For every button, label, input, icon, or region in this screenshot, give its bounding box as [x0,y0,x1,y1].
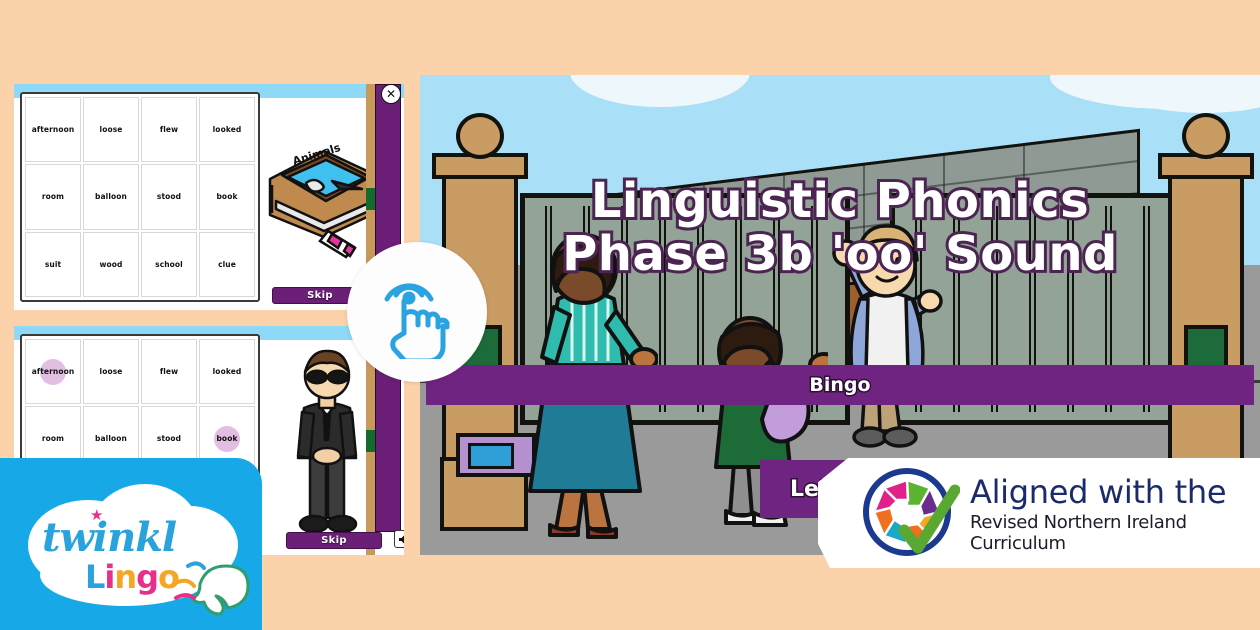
bingo-word: flew [160,367,178,376]
logo-lingo-wordmark: Lingo [85,558,179,596]
bingo-cell[interactable]: flew [141,97,197,162]
bingo-word: book [216,192,237,201]
bingo-cell[interactable]: looked [199,339,255,404]
speaker-icon[interactable] [394,530,404,548]
logo-twinkl-wordmark: twinkl [42,514,176,561]
bingo-cell[interactable]: suit [25,232,81,297]
bingo-word: loose [100,367,123,376]
bingo-cell[interactable]: balloon [83,164,139,229]
bingo-word: room [42,192,64,201]
tap-click-cursor-badge [347,242,487,382]
thumb-rail-green-tab [366,430,375,452]
bingo-cell[interactable]: clue [199,232,255,297]
playground-box-window [468,443,514,469]
logo-letter: L [85,558,104,596]
curriculum-alignment-badge: Aligned with the Revised Northern Irelan… [818,458,1260,568]
bingo-cell[interactable]: looked [199,97,255,162]
activity-name-label: Bingo [809,374,870,396]
bingo-cell[interactable]: loose [83,97,139,162]
bingo-word: loose [100,125,123,134]
bingo-word: afternoon [32,367,75,376]
bingo-word: stood [157,192,181,201]
gate-pillar-left-ball [456,113,504,159]
poster-canvas: afternoon loose flew looked room balloon… [0,0,1260,630]
skip-label: Skip [307,290,333,301]
bingo-cell[interactable]: book [199,164,255,229]
gate-pillar-right-ball [1182,113,1230,159]
tap-click-hand-icon [374,265,460,359]
bingo-word: suit [45,260,61,269]
logo-letter: g [136,558,158,596]
badge-line-1: Aligned with the [970,476,1260,510]
bingo-word: wood [99,260,122,269]
logo-letter: n [114,558,136,596]
thumb-rail-green-tab [366,188,375,210]
badge-line-2: Revised Northern Ireland Curriculum [970,512,1260,554]
logo-star-icon: ★ [90,508,103,523]
bingo-cell-marked[interactable]: afternoon [25,339,81,404]
bingo-cell[interactable]: school [141,232,197,297]
bingo-word: room [42,434,64,443]
bingo-word: stood [157,434,181,443]
close-glyph: ✕ [386,88,396,100]
thumb-content: afternoon loose flew looked room balloon… [14,84,404,310]
aperture-check-logo-icon [860,466,960,562]
bingo-word: clue [218,260,236,269]
bingo-cell[interactable]: flew [141,339,197,404]
skip-button[interactable]: Skip [286,532,382,549]
badge-text-block: Aligned with the Revised Northern Irelan… [970,476,1260,554]
logo-letter: i [104,558,114,596]
bingo-word: school [155,260,183,269]
bingo-word: balloon [95,192,127,201]
thumbnail-bingo-card-blank[interactable]: afternoon loose flew looked room balloon… [14,84,404,310]
bingo-word: afternoon [32,125,75,134]
skip-label: Skip [321,535,347,546]
bingo-word: book [216,434,237,443]
bingo-card[interactable]: afternoon loose flew looked room balloon… [20,92,260,302]
bingo-cell[interactable]: wood [83,232,139,297]
bingo-word: looked [213,125,242,134]
bingo-cell[interactable]: stood [141,164,197,229]
bingo-cell[interactable]: loose [83,339,139,404]
bingo-cell[interactable]: room [25,164,81,229]
logo-bird-icon [170,554,250,616]
activity-name-banner: Bingo [426,365,1254,405]
bingo-word: looked [213,367,242,376]
bingo-word: flew [160,125,178,134]
twinkl-lingo-logo-panel[interactable]: ★ twinkl Lingo [0,458,262,630]
girl-with-oo-sign-character [822,217,952,467]
close-icon[interactable]: ✕ [381,84,401,104]
speaker-glyph [398,534,405,545]
bingo-word: balloon [95,434,127,443]
bingo-cell[interactable]: afternoon [25,97,81,162]
